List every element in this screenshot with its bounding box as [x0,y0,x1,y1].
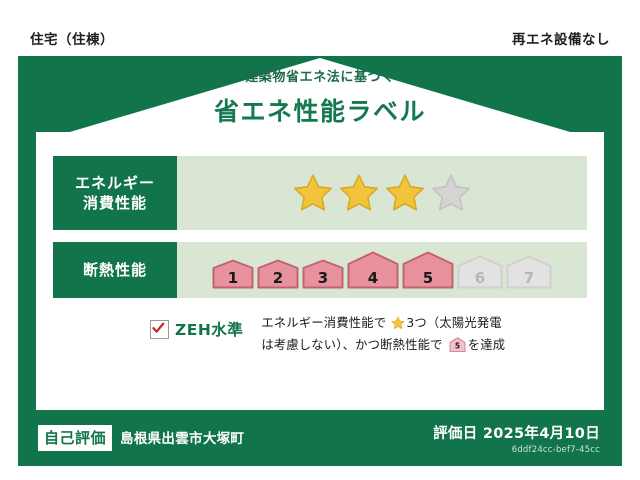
energy-performance-value [177,156,587,230]
renewable-equipment-tag: 再エネ設備なし [500,22,622,54]
insulation-house-number: 6 [475,269,485,287]
star-icon-filled [291,172,335,214]
building-type-tag-label: 住宅（住棟） [30,28,114,48]
insulation-house-achieved: 4 [347,251,399,289]
insulation-performance-label-line1: 断熱性能 [83,260,147,280]
evaluation-date: 評価日 2025年4月10日 [433,422,600,443]
building-type-tag: 住宅（住棟） [18,22,126,54]
zeh-standard-row: ZEH水準 エネルギー消費性能で 3つ（太陽光発電 は考慮しない）、かつ断熱性能… [53,312,587,372]
insulation-house-number: 3 [318,269,328,287]
zeh-description-part1: エネルギー消費性能で [261,316,386,330]
document-id: 6ddf24cc-bef7-45cc [433,445,600,455]
energy-performance-label-card: 住宅（住棟） 再エネ設備なし 建築物省エネ法に基づく 省エネ性能ラベル エネルギ… [18,14,622,466]
insulation-performance-row: 断熱性能 1234567 [53,242,587,298]
star-icon [391,316,405,330]
zeh-description-stars: 3つ（太陽光発電 [406,316,502,330]
star-icon-empty [429,172,473,214]
insulation-house-number: 1 [228,269,238,287]
check-icon [152,322,165,335]
zeh-description-part2: は考慮しない）、かつ断熱性能で [261,338,442,352]
insulation-house-number: 4 [368,269,378,287]
energy-performance-row: エネルギー 消費性能 [53,156,587,230]
insulation-grade-scale: 1234567 [212,251,552,289]
insulation-house-number: 7 [524,269,534,287]
label-footer: 自己評価 島根県出雲市大塚町 評価日 2025年4月10日 6ddf24cc-b… [18,410,622,466]
energy-performance-label-line1: エネルギー [75,173,155,193]
title-subtitle: 建築物省エネ法に基づく [18,66,622,85]
renewable-equipment-tag-label: 再エネ設備なし [512,28,610,48]
insulation-house-achieved: 1 [212,259,254,289]
zeh-badge: ZEH水準 [150,318,243,340]
star-icon-filled [383,172,427,214]
energy-performance-label: エネルギー 消費性能 [53,156,177,230]
zeh-checkbox[interactable] [150,320,169,339]
zeh-description-line1: エネルギー消費性能で 3つ（太陽光発電 [261,313,505,335]
star-icon-filled [337,172,381,214]
insulation-performance-label: 断熱性能 [53,242,177,298]
footer-right: 評価日 2025年4月10日 6ddf24cc-bef7-45cc [433,422,600,455]
page-title: 省エネ性能ラベル [18,92,622,128]
star-rating [291,172,473,214]
self-evaluation-badge: 自己評価 [38,425,112,451]
zeh-description: エネルギー消費性能で 3つ（太陽光発電 は考慮しない）、かつ断熱性能で 5 を達… [261,313,505,356]
footer-left: 自己評価 島根県出雲市大塚町 [38,425,244,451]
label-body: エネルギー 消費性能 断熱性能 1234567 [36,142,604,410]
insulation-house-inactive: 6 [457,255,503,289]
insulation-house-number: 2 [273,269,283,287]
energy-performance-label-line2: 消費性能 [83,193,147,213]
insulation-house-achieved: 2 [257,259,299,289]
insulation-house-number: 5 [423,269,433,287]
house-grade-icon: 5 [449,337,466,352]
title-block: 建築物省エネ法に基づく 省エネ性能ラベル [18,66,622,128]
zeh-label: ZEH水準 [175,318,243,340]
zeh-description-part3: を達成 [468,338,506,352]
insulation-performance-value: 1234567 [177,242,587,298]
insulation-house-inactive: 7 [506,255,552,289]
house-grade-icon-number: 5 [455,341,460,350]
property-address: 島根県出雲市大塚町 [120,427,244,447]
insulation-house-achieved: 5 [402,251,454,289]
zeh-description-line2: は考慮しない）、かつ断熱性能で 5 を達成 [261,335,505,357]
insulation-house-achieved: 3 [302,259,344,289]
